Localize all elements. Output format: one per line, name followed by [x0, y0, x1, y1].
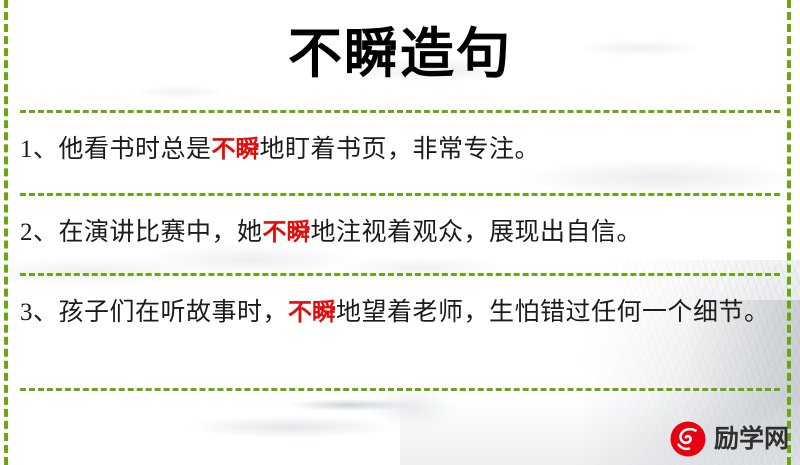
- keyword-highlight-2: 不瞬: [263, 218, 311, 246]
- dashed-separator-1: [20, 110, 780, 113]
- sentence-index-1: 1、: [20, 136, 59, 163]
- sentence-text-after-3: 地望着老师，生怕错过任何一个细节。: [336, 299, 770, 326]
- sentence-item-3: 3、孩子们在听故事时，不瞬地望着老师，生怕错过任何一个细节。: [20, 291, 782, 334]
- site-logo-text: 励学网: [714, 425, 789, 453]
- sentence-text-before-3: 孩子们在听故事时，: [59, 299, 289, 326]
- flame-swirl-icon: [668, 419, 708, 459]
- dashed-separator-3: [20, 273, 780, 276]
- ink-wash-boat-watermark: [120, 385, 480, 465]
- keyword-highlight-3: 不瞬: [288, 298, 336, 326]
- sentence-text-after-1: 地盯着书页，非常专注。: [260, 136, 541, 163]
- worksheet-page: 不瞬造句 1、他看书时总是不瞬地盯着书页，非常专注。 2、在演讲比赛中，她不瞬地…: [0, 0, 800, 465]
- sentence-text-before-1: 他看书时总是: [59, 136, 212, 163]
- dashed-separator-2: [20, 193, 780, 196]
- site-logo[interactable]: 励学网: [668, 416, 792, 462]
- dashed-separator-4: [20, 388, 780, 391]
- page-title: 不瞬造句: [0, 18, 800, 88]
- sentence-item-2: 2、在演讲比赛中，她不瞬地注视着观众，展现出自信。: [20, 211, 782, 254]
- sentence-item-1: 1、他看书时总是不瞬地盯着书页，非常专注。: [20, 128, 782, 171]
- keyword-highlight-1: 不瞬: [212, 135, 260, 163]
- sentence-text-after-2: 地注视着观众，展现出自信。: [311, 219, 643, 246]
- sentence-text-before-2: 在演讲比赛中，她: [59, 219, 263, 246]
- sentence-index-2: 2、: [20, 219, 59, 246]
- sentence-index-3: 3、: [20, 299, 59, 326]
